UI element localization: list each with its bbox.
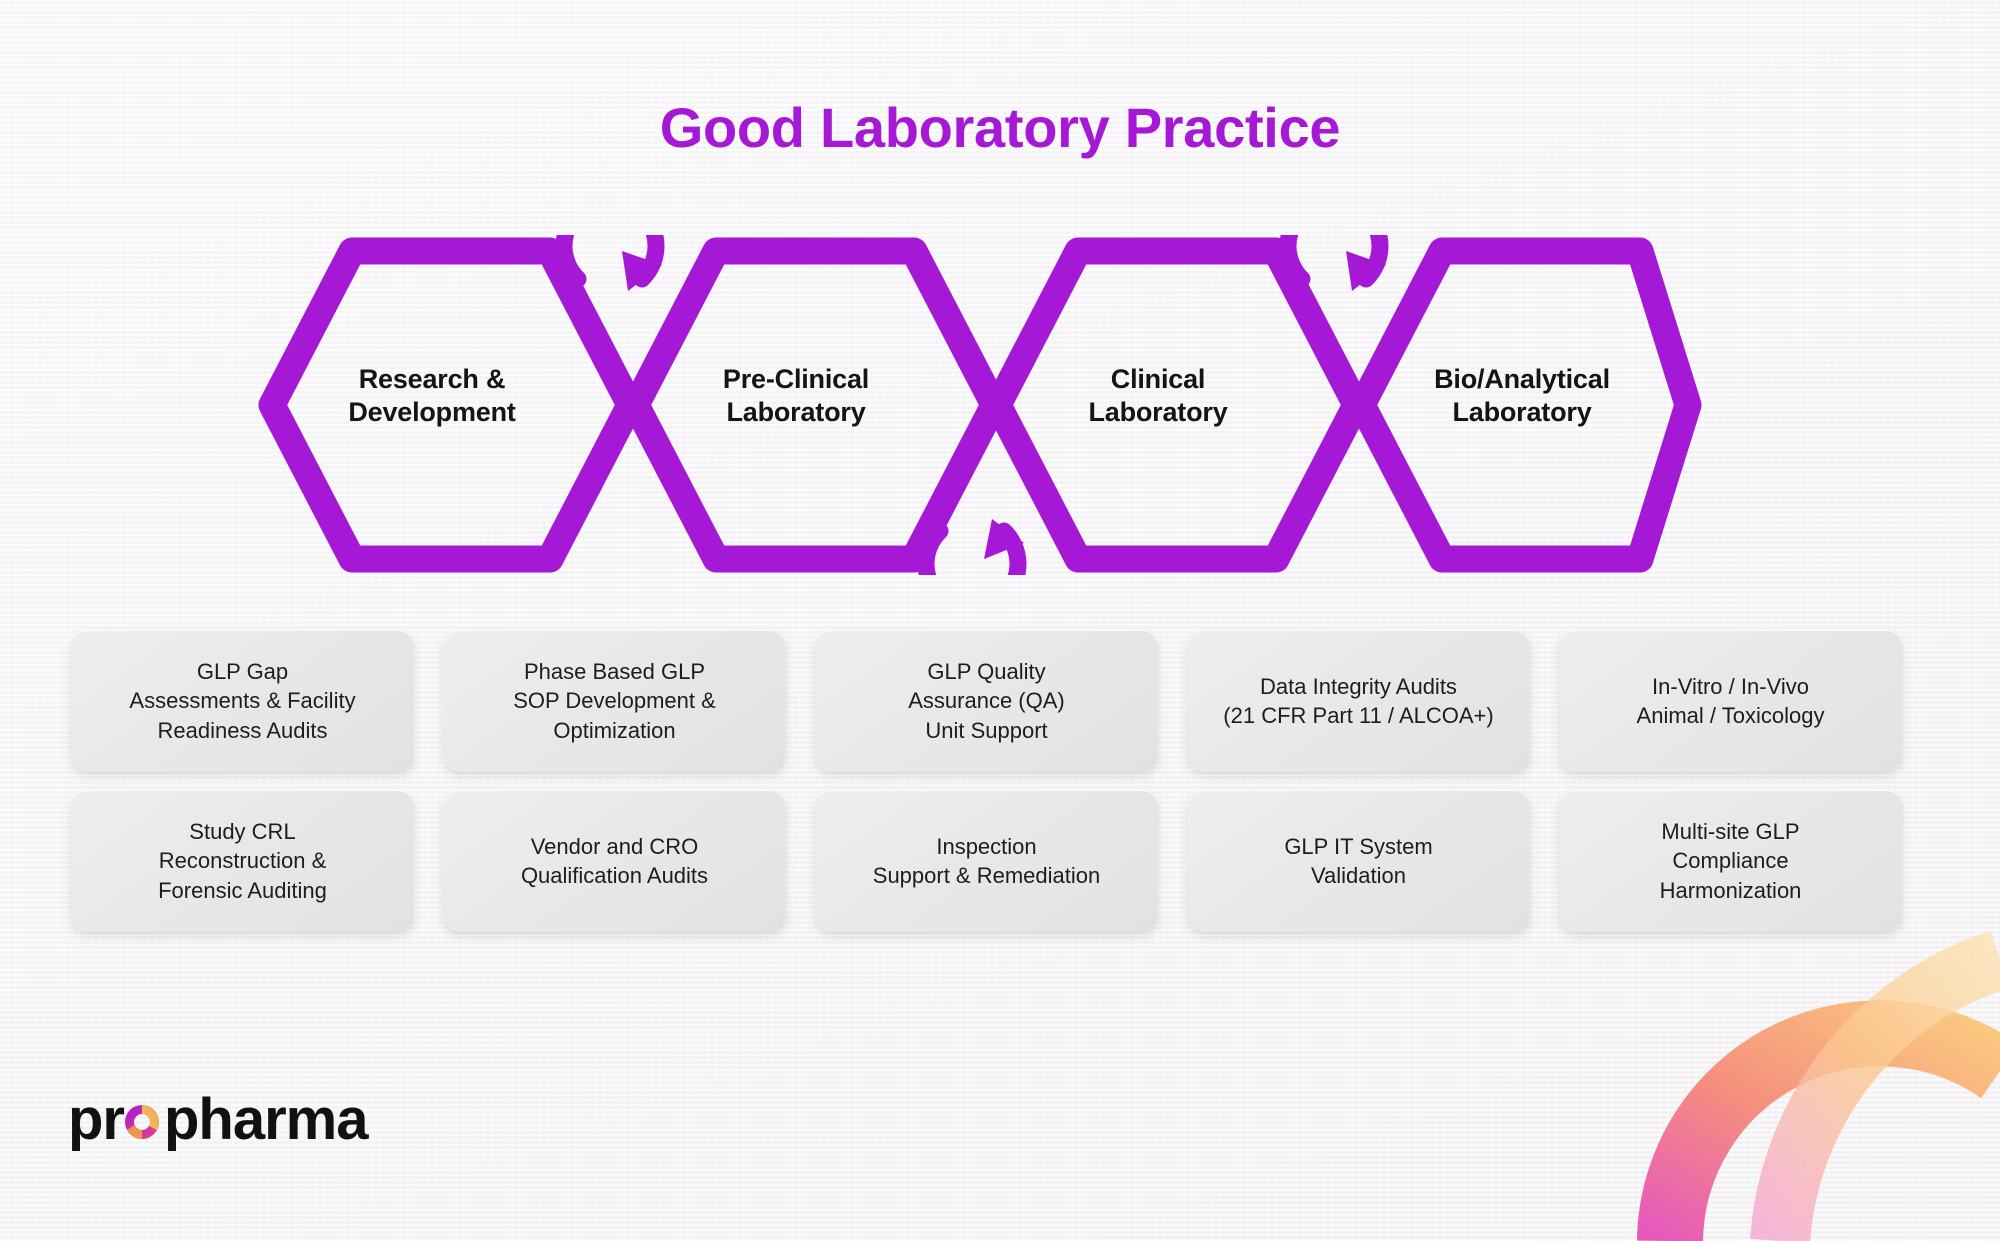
service-card[interactable]: Data Integrity Audits (21 CFR Part 11 / … <box>1187 630 1530 772</box>
connector-arrow-1 <box>564 235 662 291</box>
service-card-text: GLP IT System Validation <box>1284 832 1432 891</box>
service-card-text: GLP Quality Assurance (QA) Unit Support <box>908 657 1065 745</box>
service-card[interactable]: Vendor and CRO Qualification Audits <box>443 790 786 932</box>
page-title: Good Laboratory Practice <box>0 95 2000 160</box>
service-card-text: Multi-site GLP Compliance Harmonization <box>1660 817 1802 905</box>
hexagon-label-bio-analytical-laboratory: Bio/Analytical Laboratory <box>1372 363 1672 429</box>
service-card-text: Vendor and CRO Qualification Audits <box>521 832 708 891</box>
service-card-text: In-Vitro / In-Vivo Animal / Toxicology <box>1637 672 1825 731</box>
service-card-row-2: Study CRL Reconstruction & Forensic Audi… <box>71 790 1931 932</box>
hexagon-label-research-development: Research & Development <box>282 363 582 429</box>
service-card[interactable]: GLP IT System Validation <box>1187 790 1530 932</box>
service-card[interactable]: In-Vitro / In-Vivo Animal / Toxicology <box>1559 630 1902 772</box>
service-card-text: Data Integrity Audits (21 CFR Part 11 / … <box>1223 672 1493 731</box>
propharma-logo-svg: pr pharma <box>68 1091 438 1153</box>
service-card[interactable]: GLP Quality Assurance (QA) Unit Support <box>815 630 1158 772</box>
service-card-row-1: GLP Gap Assessments & Facility Readiness… <box>71 630 1931 772</box>
service-card-text: GLP Gap Assessments & Facility Readiness… <box>129 657 355 745</box>
svg-text:pharma: pharma <box>164 1091 369 1152</box>
service-card[interactable]: Phase Based GLP SOP Development & Optimi… <box>443 630 786 772</box>
service-card[interactable]: Inspection Support & Remediation <box>815 790 1158 932</box>
propharma-logo: pr pharma <box>68 1091 438 1153</box>
service-card-text: Study CRL Reconstruction & Forensic Audi… <box>158 817 327 905</box>
service-card-text: Phase Based GLP SOP Development & Optimi… <box>513 657 716 745</box>
hexagon-label-clinical-laboratory: Clinical Laboratory <box>1008 363 1308 429</box>
svg-text:pr: pr <box>68 1091 124 1152</box>
service-card-text: Inspection Support & Remediation <box>873 832 1100 891</box>
service-card[interactable]: Multi-site GLP Compliance Harmonization <box>1559 790 1902 932</box>
service-cards-area: GLP Gap Assessments & Facility Readiness… <box>71 630 1931 932</box>
connector-arrow-2 <box>926 519 1024 575</box>
process-flow-diagram: Research & Development Pre-Clinical Labo… <box>250 235 1710 575</box>
connector-arrow-3 <box>1288 235 1386 291</box>
service-card[interactable]: Study CRL Reconstruction & Forensic Audi… <box>71 790 414 932</box>
hexagon-label-pre-clinical-laboratory: Pre-Clinical Laboratory <box>646 363 946 429</box>
service-card[interactable]: GLP Gap Assessments & Facility Readiness… <box>71 630 414 772</box>
logo-ring-icon <box>125 1105 159 1139</box>
